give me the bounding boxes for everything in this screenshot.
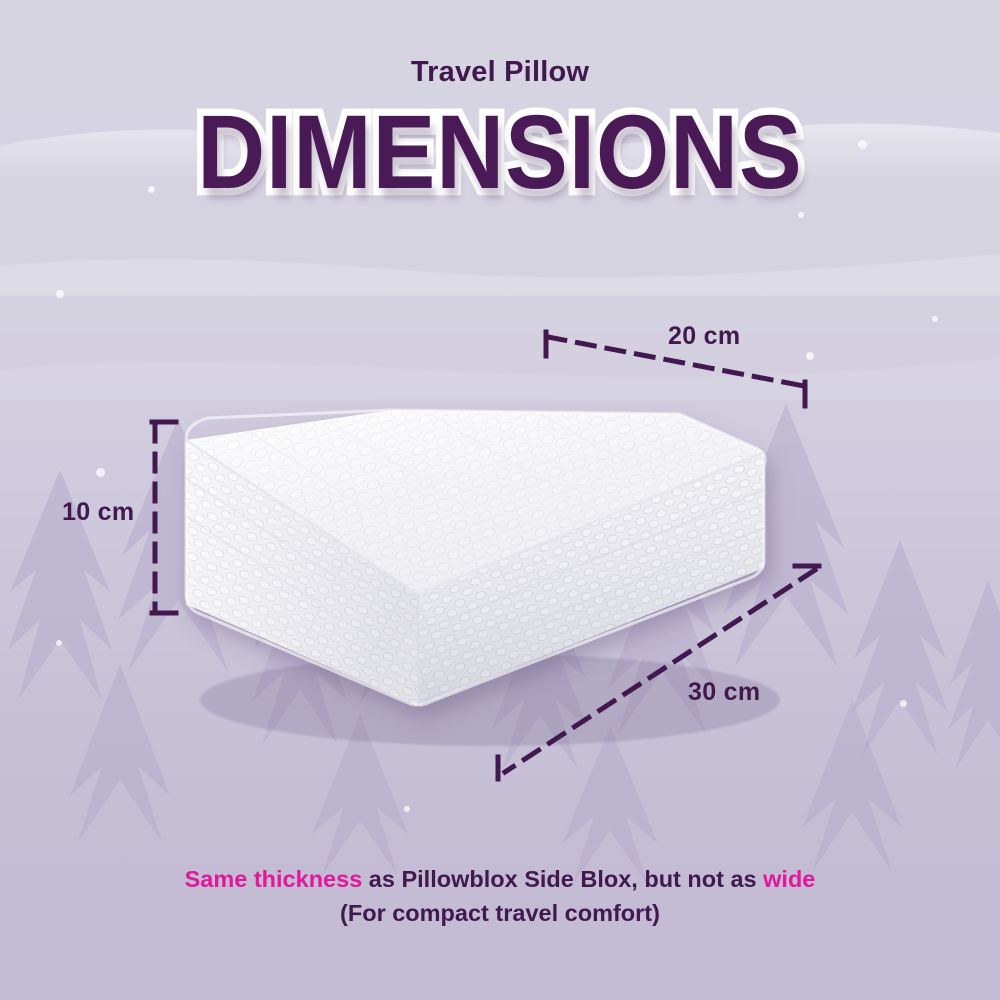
caption-middle-text: as Pillowblox Side Blox, but not as bbox=[362, 866, 763, 892]
dimension-label-depth: 30 cm bbox=[688, 678, 760, 707]
caption-line-primary: Same thickness as Pillowblox Side Blox, … bbox=[0, 868, 1000, 892]
dimension-line-height bbox=[152, 422, 176, 613]
caption-highlight-wide: wide bbox=[763, 866, 815, 892]
dimension-label-height: 10 cm bbox=[62, 498, 134, 527]
dimension-label-width: 20 cm bbox=[668, 322, 740, 351]
pillow-illustration bbox=[0, 0, 1000, 1000]
caption-line-secondary: (For compact travel comfort) bbox=[0, 902, 1000, 926]
caption-highlight-thickness: Same thickness bbox=[185, 866, 363, 892]
dimensions-infographic: Travel Pillow DIMENSIONS bbox=[0, 0, 1000, 1000]
